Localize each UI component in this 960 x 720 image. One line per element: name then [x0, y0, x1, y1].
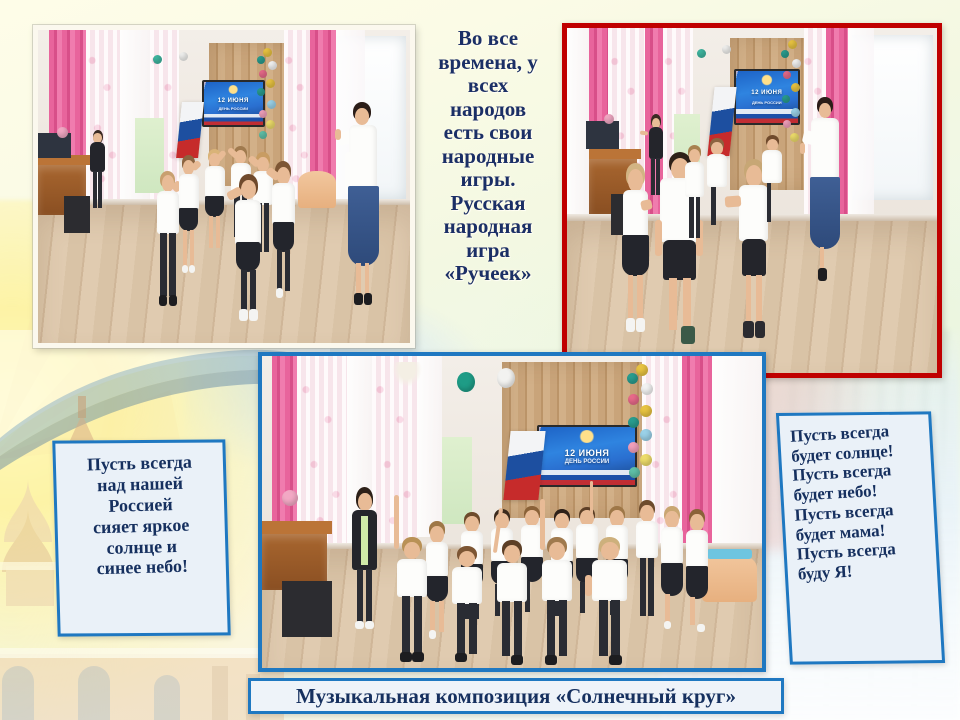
verse-line-3: всех — [418, 74, 558, 98]
caption-bar-text: Музыкальная композиция «Солнечный круг» — [296, 684, 736, 709]
child-6 — [269, 161, 299, 299]
photo-top-right[interactable]: 12 ИЮНЯ ДЕНЬ РОССИИ — [562, 23, 942, 378]
photo-bottom-center[interactable]: 12 ИЮНЯ ДЕНЬ РОССИИ — [258, 352, 766, 672]
chandelier-icon — [392, 362, 422, 387]
child-4 — [704, 138, 730, 235]
photo-top-left[interactable]: 12 ИЮНЯ ДЕНЬ РОССИИ — [33, 25, 415, 348]
russian-flag — [503, 431, 545, 500]
tv-title-line: ДЕНЬ РОССИИ — [539, 459, 635, 465]
person-teacher-right — [336, 102, 388, 312]
child-7 — [231, 174, 264, 324]
person-teacher — [347, 487, 382, 631]
child-f4 — [537, 537, 577, 665]
verse-line-5: есть свои — [418, 121, 558, 145]
photo-top-left-scene: 12 ИЮНЯ ДЕНЬ РОССИИ — [38, 30, 410, 343]
balloon-garland — [254, 46, 284, 159]
child-5 — [759, 135, 785, 232]
callout-right: Пусть всегда будет солнце! Пусть всегда … — [776, 411, 945, 664]
child-f1 — [392, 537, 432, 662]
verse-line-4: народов — [418, 98, 558, 122]
callout-left-line-6: синее небо! — [65, 555, 221, 580]
verse-line-10: игра — [418, 239, 558, 263]
verse-line-2: времена, у — [418, 51, 558, 75]
photo-top-right-scene: 12 ИЮНЯ ДЕНЬ РОССИИ — [567, 28, 937, 373]
callout-left: Пусть всегда над нашей Россией сияет ярк… — [52, 439, 231, 636]
verse-line-8: Русская — [418, 192, 558, 216]
child-1 — [619, 163, 652, 336]
tv-date-line: 12 ИЮНЯ — [539, 448, 635, 458]
person-adult-left — [86, 130, 108, 211]
child-2 — [176, 155, 202, 274]
child-f2 — [447, 546, 487, 661]
verse-line-1: Во все — [418, 27, 558, 51]
balloon-garland — [622, 362, 662, 499]
child-f3 — [492, 540, 532, 665]
slide-canvas: 12 ИЮНЯ ДЕНЬ РОССИИ — [0, 0, 960, 720]
photo-bottom-center-scene: 12 ИЮНЯ ДЕНЬ РОССИИ — [262, 356, 762, 668]
verse-line-9: народная — [418, 215, 558, 239]
caption-bar: Музыкальная композиция «Солнечный круг» — [248, 678, 784, 714]
verse-line-7: игры. — [418, 168, 558, 192]
verse-line-11: «Ручеек» — [418, 262, 558, 286]
person-teacher-right — [800, 97, 848, 287]
intro-verse-text: Во все времена, у всех народов есть свои… — [418, 27, 558, 286]
child-f5 — [587, 537, 632, 665]
child-3 — [202, 149, 228, 255]
verse-line-6: народные — [418, 145, 558, 169]
child-b10 — [682, 509, 712, 634]
